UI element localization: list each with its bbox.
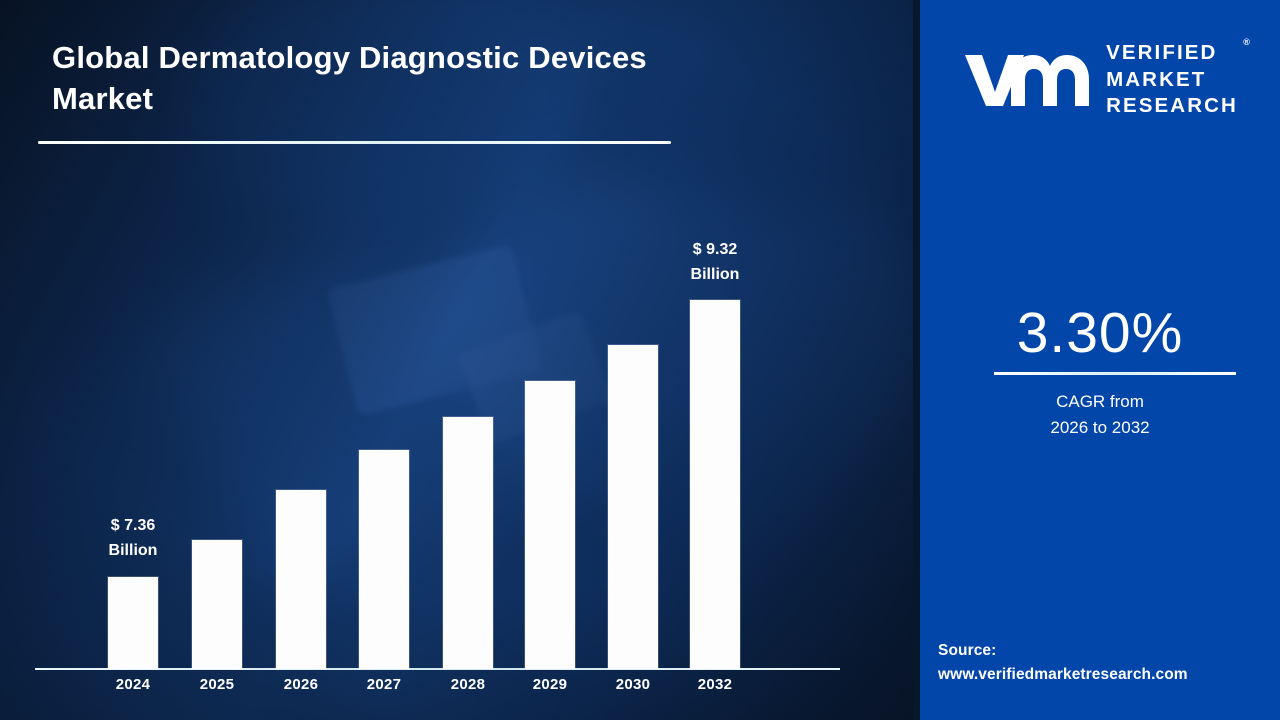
x-tick-2025: 2025 xyxy=(175,676,259,693)
infographic-root: Global Dermatology Diagnostic Devices Ma… xyxy=(0,0,1280,720)
vmr-logo-icon xyxy=(962,49,1092,111)
x-tick-2029: 2029 xyxy=(508,676,592,693)
cagr-value: 3.30% xyxy=(920,300,1280,366)
bar-label-2024: $ 7.36 Billion xyxy=(73,514,193,564)
page-title-wrap: Global Dermatology Diagnostic Devices Ma… xyxy=(52,37,692,119)
cagr-caption-line-2: 2026 to 2032 xyxy=(1050,418,1149,437)
x-tick-2027: 2027 xyxy=(342,676,426,693)
x-tick-2026: 2026 xyxy=(259,676,343,693)
bar-2029 xyxy=(525,381,575,669)
right-panel: VERIFIED MARKET RESEARCH ® 3.30% CAGR fr… xyxy=(920,0,1280,720)
cagr-divider xyxy=(994,372,1236,375)
bar-2024 xyxy=(108,577,158,669)
cagr-caption: CAGR from 2026 to 2032 xyxy=(920,389,1280,440)
brand-line-2: MARKET xyxy=(1106,67,1238,94)
brand-line-3: RESEARCH xyxy=(1106,93,1238,120)
title-underline xyxy=(38,141,671,144)
source-block: Source: www.verifiedmarketresearch.com xyxy=(938,639,1280,686)
source-label: Source: xyxy=(938,642,996,659)
bar-label-2032: $ 9.32 Billion xyxy=(655,238,775,288)
page-title: Global Dermatology Diagnostic Devices Ma… xyxy=(52,37,692,119)
brand-line-1: VERIFIED xyxy=(1106,40,1238,67)
brand-logo: VERIFIED MARKET RESEARCH ® xyxy=(920,28,1280,132)
bar-2028 xyxy=(443,417,493,669)
bar-2030 xyxy=(608,345,658,669)
bar-label-2024-value: $ 7.36 xyxy=(111,517,155,534)
registered-trademark-icon: ® xyxy=(1243,37,1250,47)
source-url[interactable]: www.verifiedmarketresearch.com xyxy=(938,663,1280,687)
x-tick-2024: 2024 xyxy=(91,676,175,693)
x-tick-2032: 2032 xyxy=(673,676,757,693)
cagr-caption-line-1: CAGR from xyxy=(1056,392,1144,411)
bar-label-2024-unit: Billion xyxy=(109,542,158,559)
bar-2025 xyxy=(192,540,242,669)
x-tick-2030: 2030 xyxy=(591,676,675,693)
bar-label-2032-unit: Billion xyxy=(691,266,740,283)
bar-2027 xyxy=(359,450,409,669)
brand-wordmark: VERIFIED MARKET RESEARCH ® xyxy=(1106,40,1238,120)
bar-label-2032-value: $ 9.32 xyxy=(693,241,737,258)
bar-2032 xyxy=(690,300,740,669)
bar-2026 xyxy=(276,490,326,669)
x-tick-2028: 2028 xyxy=(426,676,510,693)
left-panel: Global Dermatology Diagnostic Devices Ma… xyxy=(0,0,917,720)
